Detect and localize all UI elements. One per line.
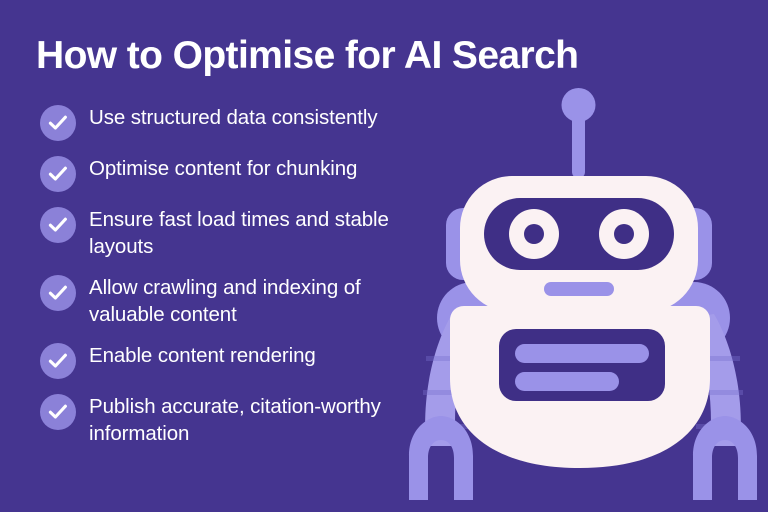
list-item-label: Enable content rendering (89, 342, 316, 369)
check-icon (40, 343, 76, 379)
list-item-label: Allow crawling and indexing of valuable … (89, 274, 419, 328)
check-icon (40, 394, 76, 430)
list-item: Allow crawling and indexing of valuable … (40, 274, 440, 328)
hand-right (693, 416, 757, 500)
list-item: Use structured data consistently (40, 104, 440, 141)
poster-canvas: How to Optimise for AI Search Use struct… (0, 0, 768, 512)
hand-left (409, 416, 473, 500)
list-item: Optimise content for chunking (40, 155, 440, 192)
check-icon (40, 275, 76, 311)
chest-bar-top (515, 344, 649, 363)
robot-mascot-illustration (398, 78, 768, 512)
mouth (544, 282, 614, 296)
list-item: Enable content rendering (40, 342, 440, 379)
list-item-label: Ensure fast load times and stable layout… (89, 206, 419, 260)
list-item-label: Optimise content for chunking (89, 155, 357, 182)
list-item-label: Use structured data consistently (89, 104, 378, 131)
checklist: Use structured data consistently Optimis… (40, 104, 440, 461)
check-icon (40, 156, 76, 192)
eye-right-pupil (614, 224, 634, 244)
list-item-label: Publish accurate, citation-worthy inform… (89, 393, 419, 447)
page-title: How to Optimise for AI Search (36, 33, 736, 79)
check-icon (40, 207, 76, 243)
list-item: Publish accurate, citation-worthy inform… (40, 393, 440, 447)
check-icon (40, 105, 76, 141)
chest-bar-bottom (515, 372, 619, 391)
eye-left-pupil (524, 224, 544, 244)
list-item: Ensure fast load times and stable layout… (40, 206, 440, 260)
antenna-ball (562, 88, 596, 122)
